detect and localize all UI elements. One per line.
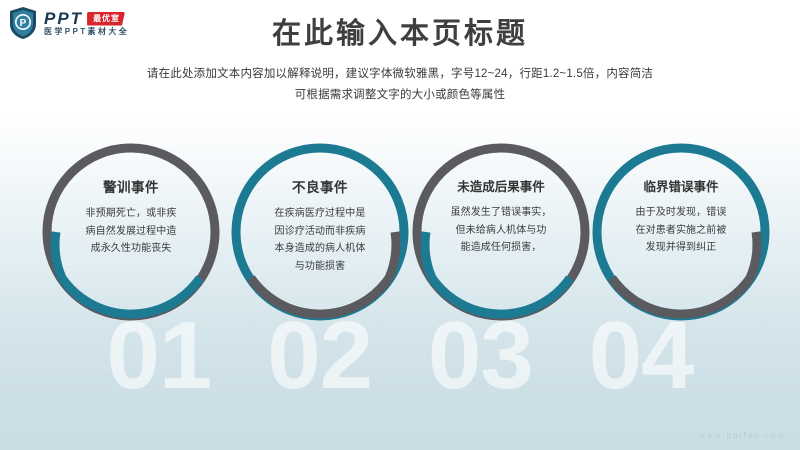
circle-body-line: 虽然发生了错误事实， — [451, 204, 552, 222]
circle-body-2: 在疾病医疗过程中是 因诊疗活动而非疾病 本身造成的病人机体 与功能损害 — [275, 205, 366, 275]
circle-title-1: 警训事件 — [103, 180, 159, 196]
circle-content-4: 临界错误事件 由于及时发现，错误 在对患者实施之前被 发现并得到纠正 — [601, 152, 761, 312]
circle-body-line: 但未给病人机体与功 — [451, 222, 552, 240]
circle-body-line: 非预期死亡，或非疾 — [86, 205, 177, 223]
circle-item-2[interactable]: 不良事件 在疾病医疗过程中是 因诊疗活动而非疾病 本身造成的病人机体 与功能损害 — [231, 143, 409, 321]
watermark-02: 02 — [267, 310, 372, 401]
circle-body-line: 由于及时发现，错误 — [636, 204, 727, 222]
page-title: 在此输入本页标题 — [0, 16, 800, 52]
circle-body-3: 虽然发生了错误事实， 但未给病人机体与功 能造成任何损害， — [451, 204, 552, 257]
circle-title-3: 未造成后果事件 — [457, 180, 545, 195]
watermark-04: 04 — [589, 310, 694, 401]
circle-row: 警训事件 非预期死亡，或非疾 病自然发展过程中造 成永久性功能丧失 不良事件 — [0, 143, 800, 323]
circle-body-line: 在对患者实施之前被 — [636, 222, 727, 240]
circle-body-line: 病自然发展过程中造 — [86, 223, 177, 241]
slide-canvas: P PPT 最优室 医学PPT素材大全 在此输入本页标题 请在此处添加文本内容加… — [0, 0, 800, 450]
circle-item-1[interactable]: 警训事件 非预期死亡，或非疾 病自然发展过程中造 成永久性功能丧失 — [42, 143, 220, 321]
circle-body-line: 与功能损害 — [275, 258, 366, 276]
circle-content-1: 警训事件 非预期死亡，或非疾 病自然发展过程中造 成永久性功能丧失 — [51, 152, 211, 312]
subtitle-line-2: 可根据需求调整文字的大小或颜色等属性 — [0, 85, 800, 106]
circle-body-line: 在疾病医疗过程中是 — [275, 205, 366, 223]
circle-body-1: 非预期死亡，或非疾 病自然发展过程中造 成永久性功能丧失 — [86, 205, 177, 258]
subtitle-line-1: 请在此处添加文本内容加以解释说明，建议字体微软雅黑，字号12~24，行距1.2~… — [0, 64, 800, 85]
circle-body-line: 成永久性功能丧失 — [86, 240, 177, 258]
circle-body-line: 本身造成的病人机体 — [275, 240, 366, 258]
circle-body-line: 因诊疗活动而非疾病 — [275, 223, 366, 241]
watermark-01: 01 — [106, 310, 211, 401]
circle-item-3[interactable]: 未造成后果事件 虽然发生了错误事实， 但未给病人机体与功 能造成任何损害， — [412, 143, 590, 321]
watermark-03: 03 — [428, 310, 533, 401]
watermark-numbers: 01 02 03 04 — [0, 310, 800, 420]
circle-item-4[interactable]: 临界错误事件 由于及时发现，错误 在对患者实施之前被 发现并得到纠正 — [592, 143, 770, 321]
circle-title-4: 临界错误事件 — [643, 180, 718, 195]
page-subtitle: 请在此处添加文本内容加以解释说明，建议字体微软雅黑，字号12~24，行距1.2~… — [0, 64, 800, 107]
circle-body-line: 发现并得到纠正 — [636, 239, 727, 257]
footer-url: www.pptfan.com — [699, 431, 786, 440]
circle-body-line: 能造成任何损害， — [451, 239, 552, 257]
circle-title-2: 不良事件 — [292, 180, 348, 196]
circle-body-4: 由于及时发现，错误 在对患者实施之前被 发现并得到纠正 — [636, 204, 727, 257]
circle-content-2: 不良事件 在疾病医疗过程中是 因诊疗活动而非疾病 本身造成的病人机体 与功能损害 — [240, 152, 400, 312]
circle-content-3: 未造成后果事件 虽然发生了错误事实， 但未给病人机体与功 能造成任何损害， — [421, 152, 581, 312]
